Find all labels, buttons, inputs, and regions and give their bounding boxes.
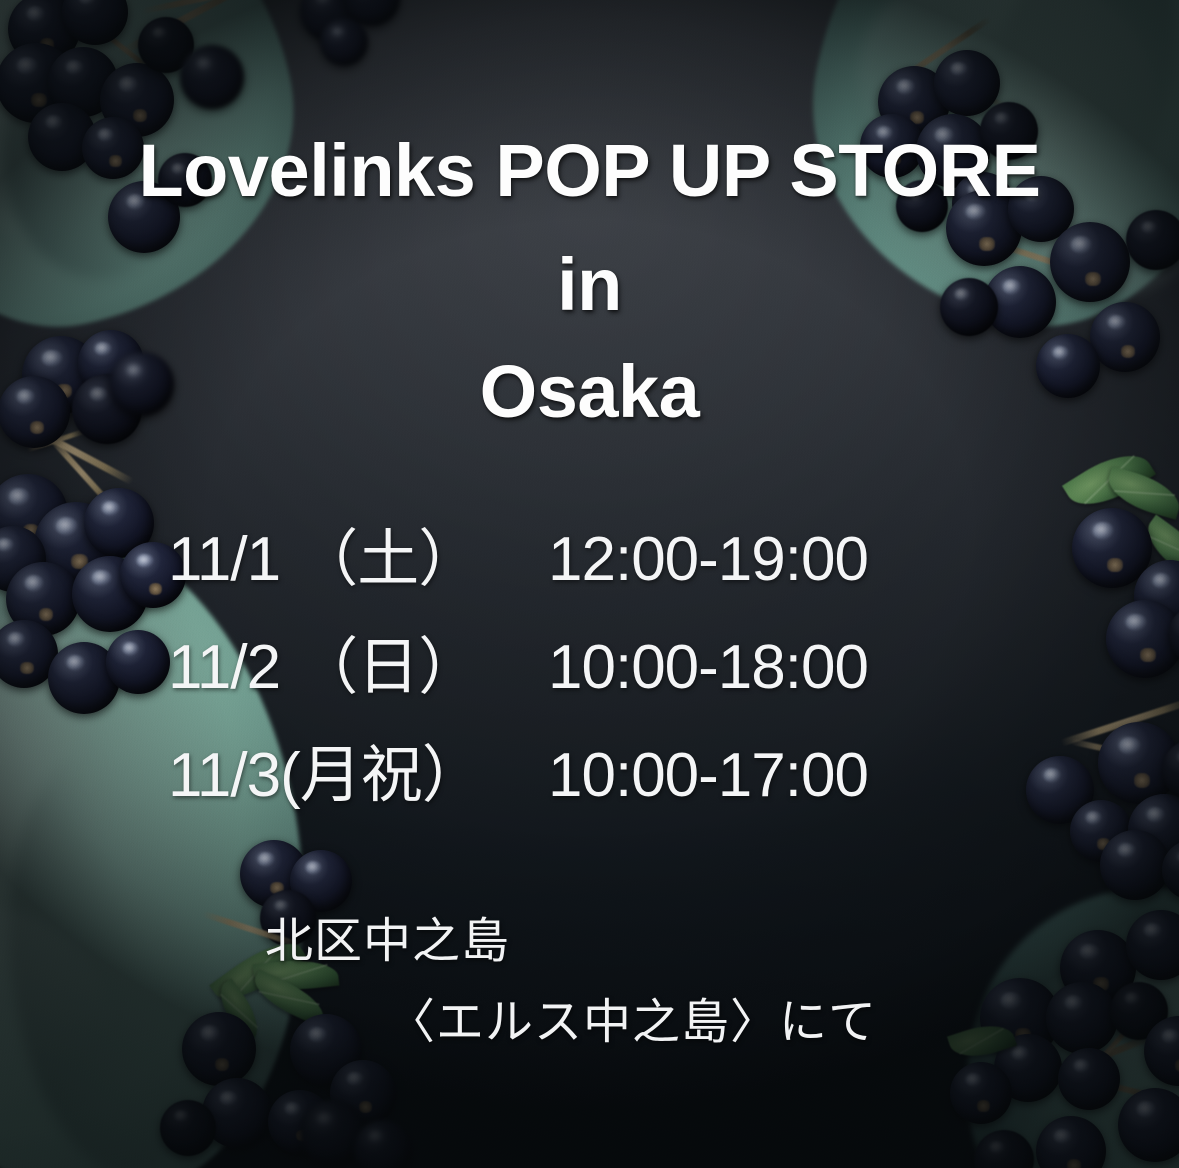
page-title-line3: Osaka [0, 355, 1179, 429]
schedule-date: 11/1 （土） [168, 508, 548, 598]
poster-canvas: Lovelinks POP UP STORE in Osaka 11/1 （土）… [0, 0, 1179, 1168]
schedule-row: 11/3(月祝） 10:00-17:00 [168, 724, 998, 832]
schedule-list: 11/1 （土） 12:00-19:00 11/2 （日） 10:00-18:0… [168, 508, 998, 832]
venue-address-line2: 〈エルス中之島〉にて [387, 997, 877, 1050]
schedule-row: 11/2 （日） 10:00-18:00 [168, 616, 998, 724]
schedule-date: 11/2 （日） [168, 616, 548, 706]
page-title-line2: in [0, 248, 1179, 322]
schedule-time: 12:00-19:00 [548, 524, 868, 595]
venue-address: 北区中之島 〈エルス中之島〉にて [265, 916, 877, 1050]
schedule-time: 10:00-18:00 [548, 632, 868, 703]
schedule-row: 11/1 （土） 12:00-19:00 [168, 508, 998, 616]
venue-address-line1: 北区中之島 [265, 916, 877, 969]
schedule-time: 10:00-17:00 [548, 740, 868, 811]
poster-content: Lovelinks POP UP STORE in Osaka 11/1 （土）… [0, 0, 1179, 1168]
page-title-line1: Lovelinks POP UP STORE [0, 134, 1179, 208]
schedule-date: 11/3(月祝） [168, 724, 548, 814]
